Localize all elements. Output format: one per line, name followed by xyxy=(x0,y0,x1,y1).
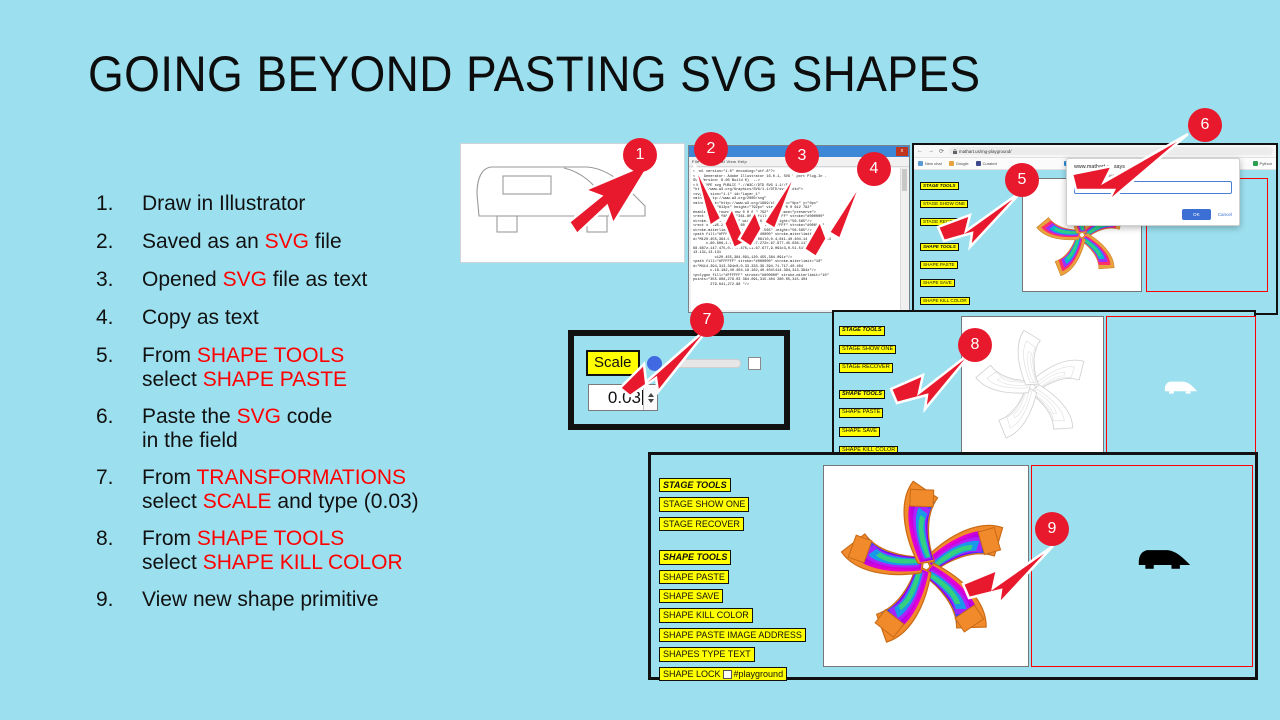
menu-item-shape-kill-color[interactable]: SHAPE KILL COLOR xyxy=(920,297,970,305)
close-icon[interactable]: x xyxy=(896,147,908,156)
list-item-number: 5. xyxy=(96,342,142,369)
callout-badge-2[interactable]: 2 xyxy=(694,132,728,166)
callout-arrow-1 xyxy=(555,150,675,260)
playground-window-bottom: STAGE TOOLS STAGE SHOW ONE STAGE RECOVER… xyxy=(648,452,1258,680)
list-item: 8. From SHAPE TOOLSselect SHAPE KILL COL… xyxy=(96,525,526,575)
callout-badge-4[interactable]: 4 xyxy=(857,152,891,186)
list-item-number: 1. xyxy=(96,190,142,217)
lock-icon xyxy=(953,149,957,154)
callout-badge-9[interactable]: 9 xyxy=(1035,512,1069,546)
list-item: 4. Copy as text xyxy=(96,304,526,331)
callout-arrow-9 xyxy=(955,540,1065,610)
bookmark-item[interactable]: Google xyxy=(949,161,969,166)
dialog-buttons: OK Cancel xyxy=(1182,209,1232,220)
callout-badge-1[interactable]: 1 xyxy=(623,138,657,172)
reload-icon[interactable]: ⟳ xyxy=(939,148,945,155)
list-item-text: Paste the SVG codein the field xyxy=(142,403,332,453)
list-item: 6. Paste the SVG codein the field xyxy=(96,403,526,453)
tool-menu-bottom: STAGE TOOLS STAGE SHOW ONE STAGE RECOVER… xyxy=(659,475,806,683)
list-item-text: View new shape primitive xyxy=(142,586,379,613)
menu-item-shape-lock[interactable]: SHAPE LOCK#playground xyxy=(659,667,787,681)
list-item-text: From TRANSFORMATIONSselect SCALE and typ… xyxy=(142,464,419,514)
list-item-number: 3. xyxy=(96,266,142,293)
cancel-button[interactable]: Cancel xyxy=(1218,212,1232,217)
list-item: 7. From TRANSFORMATIONSselect SCALE and … xyxy=(96,464,526,514)
favicon-icon xyxy=(1253,161,1258,166)
callout-badge-7[interactable]: 7 xyxy=(690,303,724,337)
menu-header-stage-tools: STAGE TOOLS xyxy=(659,478,731,492)
bookmark-item[interactable]: New chat xyxy=(918,161,942,166)
list-item-text: Copy as text xyxy=(142,304,259,331)
list-item-number: 9. xyxy=(96,586,142,613)
list-item-text: From SHAPE TOOLSselect SHAPE KILL COLOR xyxy=(142,525,403,575)
ok-button[interactable]: OK xyxy=(1182,209,1211,220)
slide-canvas: GOING BEYOND PASTING SVG SHAPES 1. Draw … xyxy=(0,0,1280,720)
list-item-number: 4. xyxy=(96,304,142,331)
list-item: 5. From SHAPE TOOLSselect SHAPE PASTE xyxy=(96,342,526,392)
favicon-icon xyxy=(918,161,923,166)
list-item-text: Draw in Illustrator xyxy=(142,190,305,217)
list-item-text: Saved as an SVG file xyxy=(142,228,342,255)
scrollbar[interactable] xyxy=(900,168,908,310)
list-item-text: From SHAPE TOOLSselect SHAPE PASTE xyxy=(142,342,347,392)
menu-item-shape-save[interactable]: SHAPE SAVE xyxy=(920,279,955,287)
bookmark-item[interactable]: Python xyxy=(1253,161,1272,166)
callout-badge-3[interactable]: 3 xyxy=(785,139,819,173)
scale-checkbox[interactable] xyxy=(748,357,761,370)
menu-item-shape-save[interactable]: SHAPE SAVE xyxy=(839,427,880,437)
menu-header-stage-tools: STAGE TOOLS xyxy=(839,326,885,336)
menu-item-shape-paste[interactable]: SHAPE PASTE xyxy=(659,570,729,584)
bookmark-item[interactable]: Curated xyxy=(976,161,997,166)
callout-arrow-6 xyxy=(1060,128,1200,208)
callout-badge-6[interactable]: 6 xyxy=(1188,108,1222,142)
list-item-number: 7. xyxy=(96,464,142,491)
shape-lock-checkbox[interactable] xyxy=(723,670,732,679)
callout-badge-8[interactable]: 8 xyxy=(958,328,992,362)
menu-header-shape-tools: SHAPE TOOLS xyxy=(839,390,885,400)
menu-item-shapes-type-text[interactable]: SHAPES TYPE TEXT xyxy=(659,647,755,661)
address-bar-url: mathart.us/mg-playground/ xyxy=(959,149,1011,154)
favicon-icon xyxy=(949,161,954,166)
list-item: 3. Opened SVG file as text xyxy=(96,266,526,293)
menu-item-shape-paste[interactable]: SHAPE PASTE xyxy=(839,408,883,418)
forward-icon[interactable]: → xyxy=(928,148,935,154)
stage-area-mid[interactable] xyxy=(1106,316,1256,458)
favicon-icon xyxy=(976,161,981,166)
callout-badge-5[interactable]: 5 xyxy=(1005,163,1039,197)
menu-spacer xyxy=(659,533,806,547)
back-icon[interactable]: ← xyxy=(917,148,924,154)
page-title: GOING BEYOND PASTING SVG SHAPES xyxy=(88,44,980,104)
menu-header-shape-tools: SHAPE TOOLS xyxy=(659,550,731,564)
menu-item-shape-kill-color[interactable]: SHAPE KILL COLOR xyxy=(659,608,753,622)
menu-item-shape-paste-image-address[interactable]: SHAPE PASTE IMAGE ADDRESS xyxy=(659,628,806,642)
list-item-text: Opened SVG file as text xyxy=(142,266,367,293)
menu-item-shape-save[interactable]: SHAPE SAVE xyxy=(659,589,723,603)
list-item-number: 8. xyxy=(96,525,142,552)
menu-item-stage-recover[interactable]: STAGE RECOVER xyxy=(659,517,744,531)
menu-item-stage-show-one[interactable]: STAGE SHOW ONE xyxy=(659,497,749,511)
car-silhouette-black xyxy=(1136,546,1192,571)
car-silhouette-white xyxy=(1163,379,1199,395)
list-item-number: 2. xyxy=(96,228,142,255)
list-item: 9. View new shape primitive xyxy=(96,586,526,613)
list-item-number: 6. xyxy=(96,403,142,430)
menu-item-shape-paste[interactable]: SHAPE PASTE xyxy=(920,261,958,269)
callout-arrow-4 xyxy=(800,175,880,275)
